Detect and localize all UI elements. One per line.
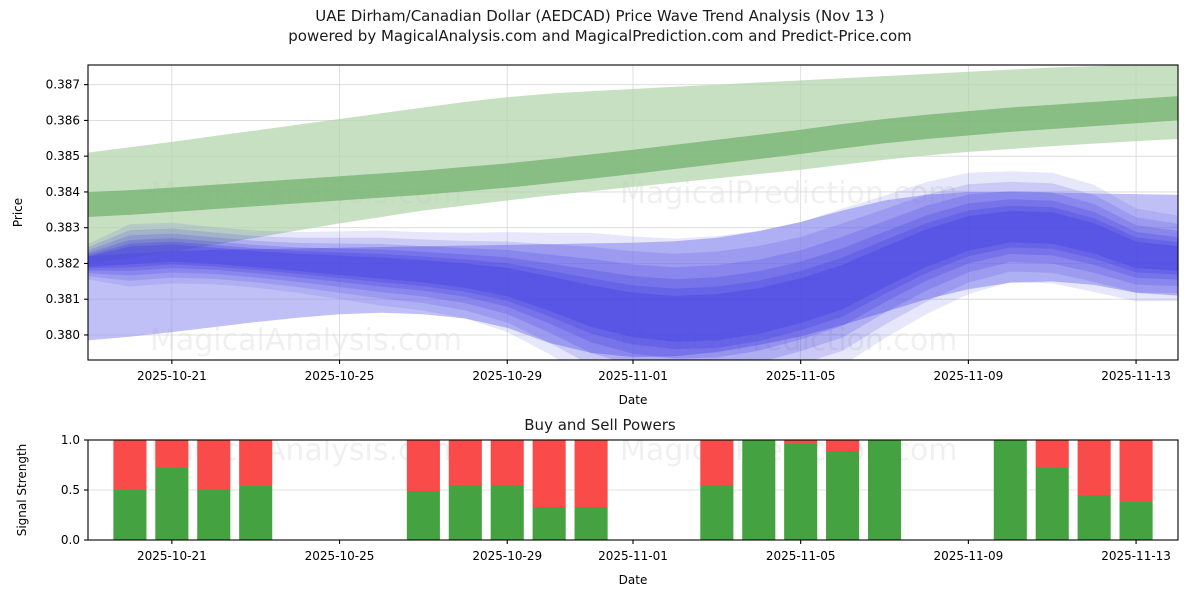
bar-sell-power[interactable] xyxy=(826,440,859,451)
bar-group[interactable] xyxy=(826,440,859,540)
bar-group[interactable] xyxy=(868,440,901,540)
bar-group[interactable] xyxy=(449,440,482,540)
bar-buy-power[interactable] xyxy=(1036,468,1069,540)
bar-sell-power[interactable] xyxy=(449,440,482,485)
bar-sell-power[interactable] xyxy=(113,440,146,490)
bar-sell-power[interactable] xyxy=(239,440,272,486)
bar-sell-power[interactable] xyxy=(700,440,733,485)
x-axis-tick-label: 2025-11-01 xyxy=(598,369,668,383)
x-axis-tick-label: 2025-11-13 xyxy=(1101,549,1171,563)
title-line-1: UAE Dirham/Canadian Dollar (AEDCAD) Pric… xyxy=(0,6,1200,26)
bar-buy-power[interactable] xyxy=(155,468,188,540)
price-wave-chart: MagicalAnalysis.comMagicalAnalysis.comMa… xyxy=(0,55,1200,465)
y-axis-tick-label: 0.383 xyxy=(46,221,80,235)
bar-group[interactable] xyxy=(491,440,524,540)
bar-sell-power[interactable] xyxy=(197,440,230,490)
bar-buy-power[interactable] xyxy=(575,507,608,540)
bar-sell-power[interactable] xyxy=(491,440,524,485)
bar-group[interactable] xyxy=(1036,440,1069,540)
bar-buy-power[interactable] xyxy=(491,485,524,540)
x-axis-tick-label: 2025-10-29 xyxy=(472,369,542,383)
bar-buy-power[interactable] xyxy=(197,490,230,540)
bar-buy-power[interactable] xyxy=(868,440,901,540)
bar-sell-power[interactable] xyxy=(1120,440,1153,502)
y-axis-tick-label: 0.380 xyxy=(46,328,80,342)
title-line-2: powered by MagicalAnalysis.com and Magic… xyxy=(0,26,1200,46)
bar-sell-power[interactable] xyxy=(155,440,188,468)
bar-buy-power[interactable] xyxy=(994,440,1027,540)
bar-group[interactable] xyxy=(700,440,733,540)
bar-sell-power[interactable] xyxy=(1078,440,1111,495)
bar-group[interactable] xyxy=(1078,440,1111,540)
bar-buy-power[interactable] xyxy=(533,507,566,540)
y-axis-title: Price xyxy=(11,198,25,227)
bar-sell-power[interactable] xyxy=(784,440,817,444)
x-axis-tick-label: 2025-11-05 xyxy=(766,549,836,563)
bar-sell-power[interactable] xyxy=(407,440,440,491)
bar-sell-power[interactable] xyxy=(1036,440,1069,468)
x-axis-tick-label: 2025-10-25 xyxy=(305,549,375,563)
y-axis-tick-label: 0.385 xyxy=(46,149,80,163)
y-axis-tick-label: 0.382 xyxy=(46,256,80,270)
bar-group[interactable] xyxy=(533,440,566,540)
bar-buy-power[interactable] xyxy=(1078,495,1111,540)
bar-buy-power[interactable] xyxy=(449,485,482,540)
bar-buy-power[interactable] xyxy=(742,440,775,540)
x-axis-tick-label: 2025-11-09 xyxy=(934,549,1004,563)
x-axis-title: Date xyxy=(619,393,648,407)
bar-buy-power[interactable] xyxy=(239,486,272,540)
bar-sell-power[interactable] xyxy=(533,440,566,507)
bar-buy-power[interactable] xyxy=(407,491,440,540)
x-axis-tick-label: 2025-10-21 xyxy=(137,369,207,383)
x-axis-tick-label: 2025-11-01 xyxy=(598,549,668,563)
bar-group[interactable] xyxy=(784,440,817,540)
chart-page: UAE Dirham/Canadian Dollar (AEDCAD) Pric… xyxy=(0,0,1200,600)
bar-buy-power[interactable] xyxy=(1120,502,1153,540)
bar-buy-power[interactable] xyxy=(784,444,817,540)
bar-group[interactable] xyxy=(239,440,272,540)
y-axis-tick-label: 0.387 xyxy=(46,78,80,92)
bar-chart-title: Buy and Sell Powers xyxy=(524,416,676,434)
bar-group[interactable] xyxy=(155,440,188,540)
x-axis-tick-label: 2025-10-29 xyxy=(472,549,542,563)
bar-group[interactable] xyxy=(575,440,608,540)
y-axis-tick-label: 0.386 xyxy=(46,113,80,127)
bar-group[interactable] xyxy=(994,440,1027,540)
y-axis-tick-label: 0.384 xyxy=(46,185,80,199)
x-axis-title: Date xyxy=(619,573,648,587)
bar-group[interactable] xyxy=(742,440,775,540)
y-axis-title: Signal Strength xyxy=(15,444,29,537)
bar-group[interactable] xyxy=(113,440,146,540)
x-axis-tick-label: 2025-11-05 xyxy=(766,369,836,383)
bar-buy-power[interactable] xyxy=(826,451,859,540)
bar-group[interactable] xyxy=(197,440,230,540)
x-axis-tick-label: 2025-11-13 xyxy=(1101,369,1171,383)
bar-buy-power[interactable] xyxy=(700,485,733,540)
bar-buy-power[interactable] xyxy=(113,490,146,540)
x-axis-tick-label: 2025-11-09 xyxy=(934,369,1004,383)
y-axis-tick-label: 0.0 xyxy=(61,533,80,547)
page-title: UAE Dirham/Canadian Dollar (AEDCAD) Pric… xyxy=(0,6,1200,46)
y-axis-tick-label: 1.0 xyxy=(61,433,80,447)
y-axis-tick-label: 0.381 xyxy=(46,292,80,306)
bar-sell-power[interactable] xyxy=(575,440,608,507)
bar-group[interactable] xyxy=(1120,440,1153,540)
x-axis-tick-label: 2025-10-21 xyxy=(137,549,207,563)
bar-group[interactable] xyxy=(407,440,440,540)
buy-sell-powers-chart: Buy and Sell PowersMagicalAnalysis.comMa… xyxy=(0,412,1200,597)
y-axis-tick-label: 0.5 xyxy=(61,483,80,497)
x-axis-tick-label: 2025-10-25 xyxy=(305,369,375,383)
